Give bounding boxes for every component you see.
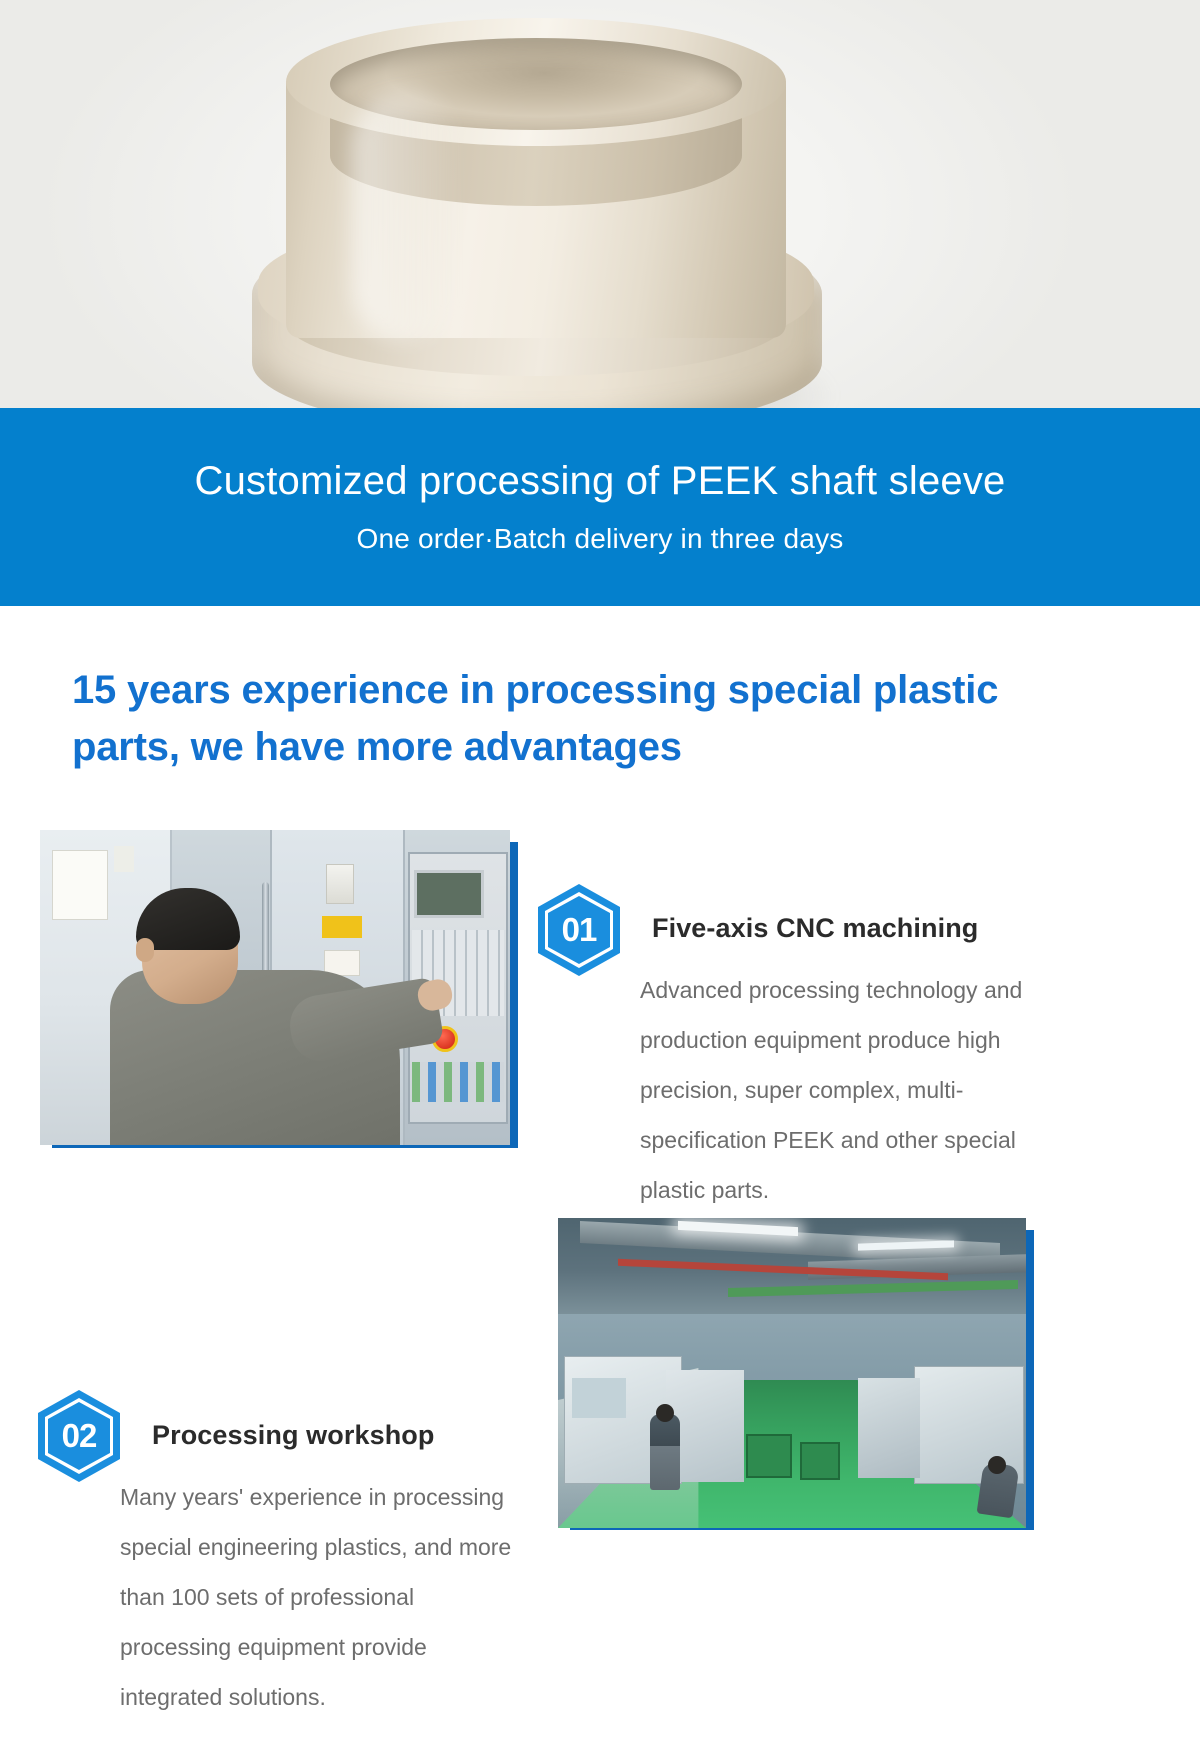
feature-1-number: 01 xyxy=(538,884,620,976)
feature-1-body: Advanced processing technology and produ… xyxy=(640,965,1060,1215)
workshop-machine-left-3 xyxy=(572,1378,626,1418)
feature-2-number-badge: 02 xyxy=(38,1390,120,1482)
feature-2-title: Processing workshop xyxy=(152,1420,434,1451)
cnc-label-b xyxy=(322,916,362,938)
workshop-worker-a-head xyxy=(656,1404,674,1422)
section-heading: 15 years experience in processing specia… xyxy=(72,662,1072,776)
cnc-button-row xyxy=(412,1062,504,1102)
cnc-operator-ear xyxy=(136,938,154,962)
feature-2-body: Many years' experience in processing spe… xyxy=(120,1472,520,1722)
product-highlight xyxy=(352,92,462,342)
workshop-cart-a xyxy=(746,1434,792,1478)
cnc-wall-paper xyxy=(52,850,108,920)
banner-title: Customized processing of PEEK shaft slee… xyxy=(194,459,1005,503)
workshop-worker-a xyxy=(650,1414,680,1490)
feature-1-title: Five-axis CNC machining xyxy=(652,913,978,944)
feature-1-image xyxy=(40,830,510,1145)
feature-1-number-badge: 01 xyxy=(538,884,620,976)
banner-subtitle: One order·Batch delivery in three days xyxy=(357,523,844,555)
cnc-label-a xyxy=(326,864,354,904)
hero-banner: Customized processing of PEEK shaft slee… xyxy=(0,408,1200,606)
cnc-wall-note xyxy=(114,846,134,872)
workshop-worker-b-head xyxy=(988,1456,1006,1474)
hero-product-image xyxy=(0,0,1200,470)
workshop-cart-b xyxy=(800,1442,840,1480)
workshop-machine-right-2 xyxy=(858,1378,920,1478)
feature-2-image xyxy=(558,1218,1026,1528)
cnc-screen xyxy=(414,870,484,918)
feature-2-number: 02 xyxy=(38,1390,120,1482)
